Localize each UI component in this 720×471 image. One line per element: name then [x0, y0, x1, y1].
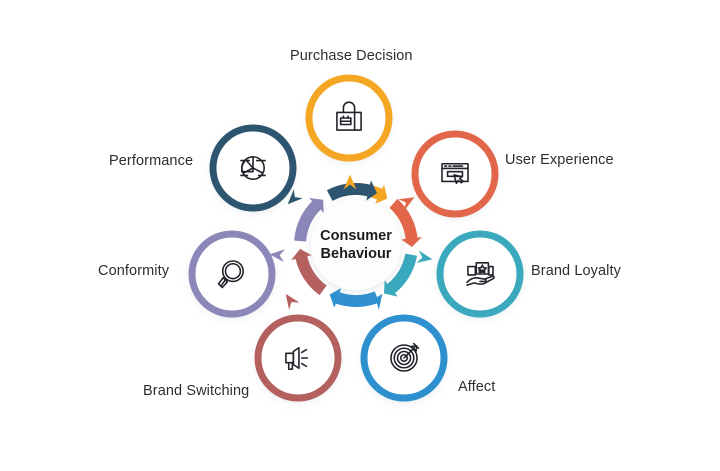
node-brand-loyalty[interactable]: [440, 234, 520, 314]
node-brand-switching[interactable]: [258, 318, 338, 398]
label-brand-loyalty: Brand Loyalty: [531, 264, 621, 279]
center-title-line1: Consumer: [286, 227, 426, 245]
infographic-canvas: Consumer Behaviour Purchase DecisionUser…: [0, 0, 720, 471]
node-performance[interactable]: [213, 128, 293, 208]
label-conformity: Conformity: [98, 264, 169, 279]
node-purchase-decision[interactable]: [309, 78, 389, 158]
node-user-experience[interactable]: [415, 134, 495, 214]
label-affect: Affect: [458, 380, 495, 395]
ring-segment-lower-right: [330, 288, 380, 308]
node-affect[interactable]: [364, 318, 444, 398]
marker-left-lower: [280, 290, 299, 310]
node-conformity[interactable]: [192, 234, 272, 314]
label-user-experience: User Experience: [505, 153, 614, 168]
center-title-line2: Behaviour: [286, 245, 426, 263]
label-brand-switching: Brand Switching: [143, 384, 249, 399]
center-title: Consumer Behaviour: [286, 227, 426, 263]
label-performance: Performance: [109, 154, 193, 169]
label-purchase-decision: Purchase Decision: [290, 49, 413, 64]
